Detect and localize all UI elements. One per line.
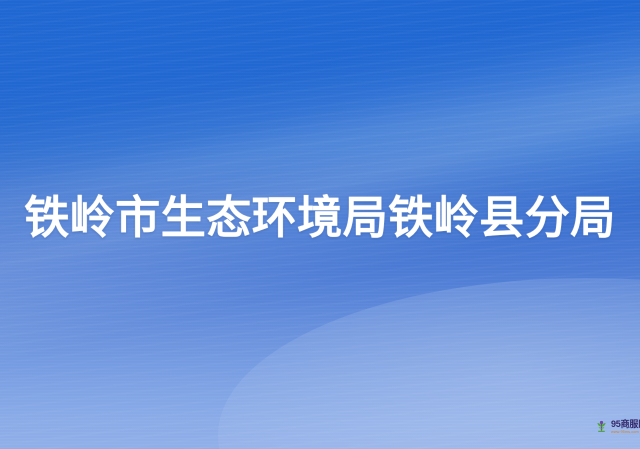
background-radial-glow <box>218 278 640 449</box>
watermark: 95商服网 www.95ms.com <box>594 419 640 434</box>
watermark-site-url: www.95ms.com <box>611 430 640 434</box>
page-title: 铁岭市生态环境局铁岭县分局 <box>24 190 616 246</box>
banner-title-container: 铁岭市生态环境局铁岭县分局 <box>0 190 640 246</box>
background-diagonal-streak-upper <box>0 0 640 300</box>
green-figure-logo-icon <box>594 419 609 434</box>
watermark-text: 95商服网 www.95ms.com <box>611 420 640 434</box>
site-banner: 铁岭市生态环境局铁岭县分局 95商服网 www.95ms.com <box>0 0 640 449</box>
watermark-site-name: 95商服网 <box>611 420 640 429</box>
